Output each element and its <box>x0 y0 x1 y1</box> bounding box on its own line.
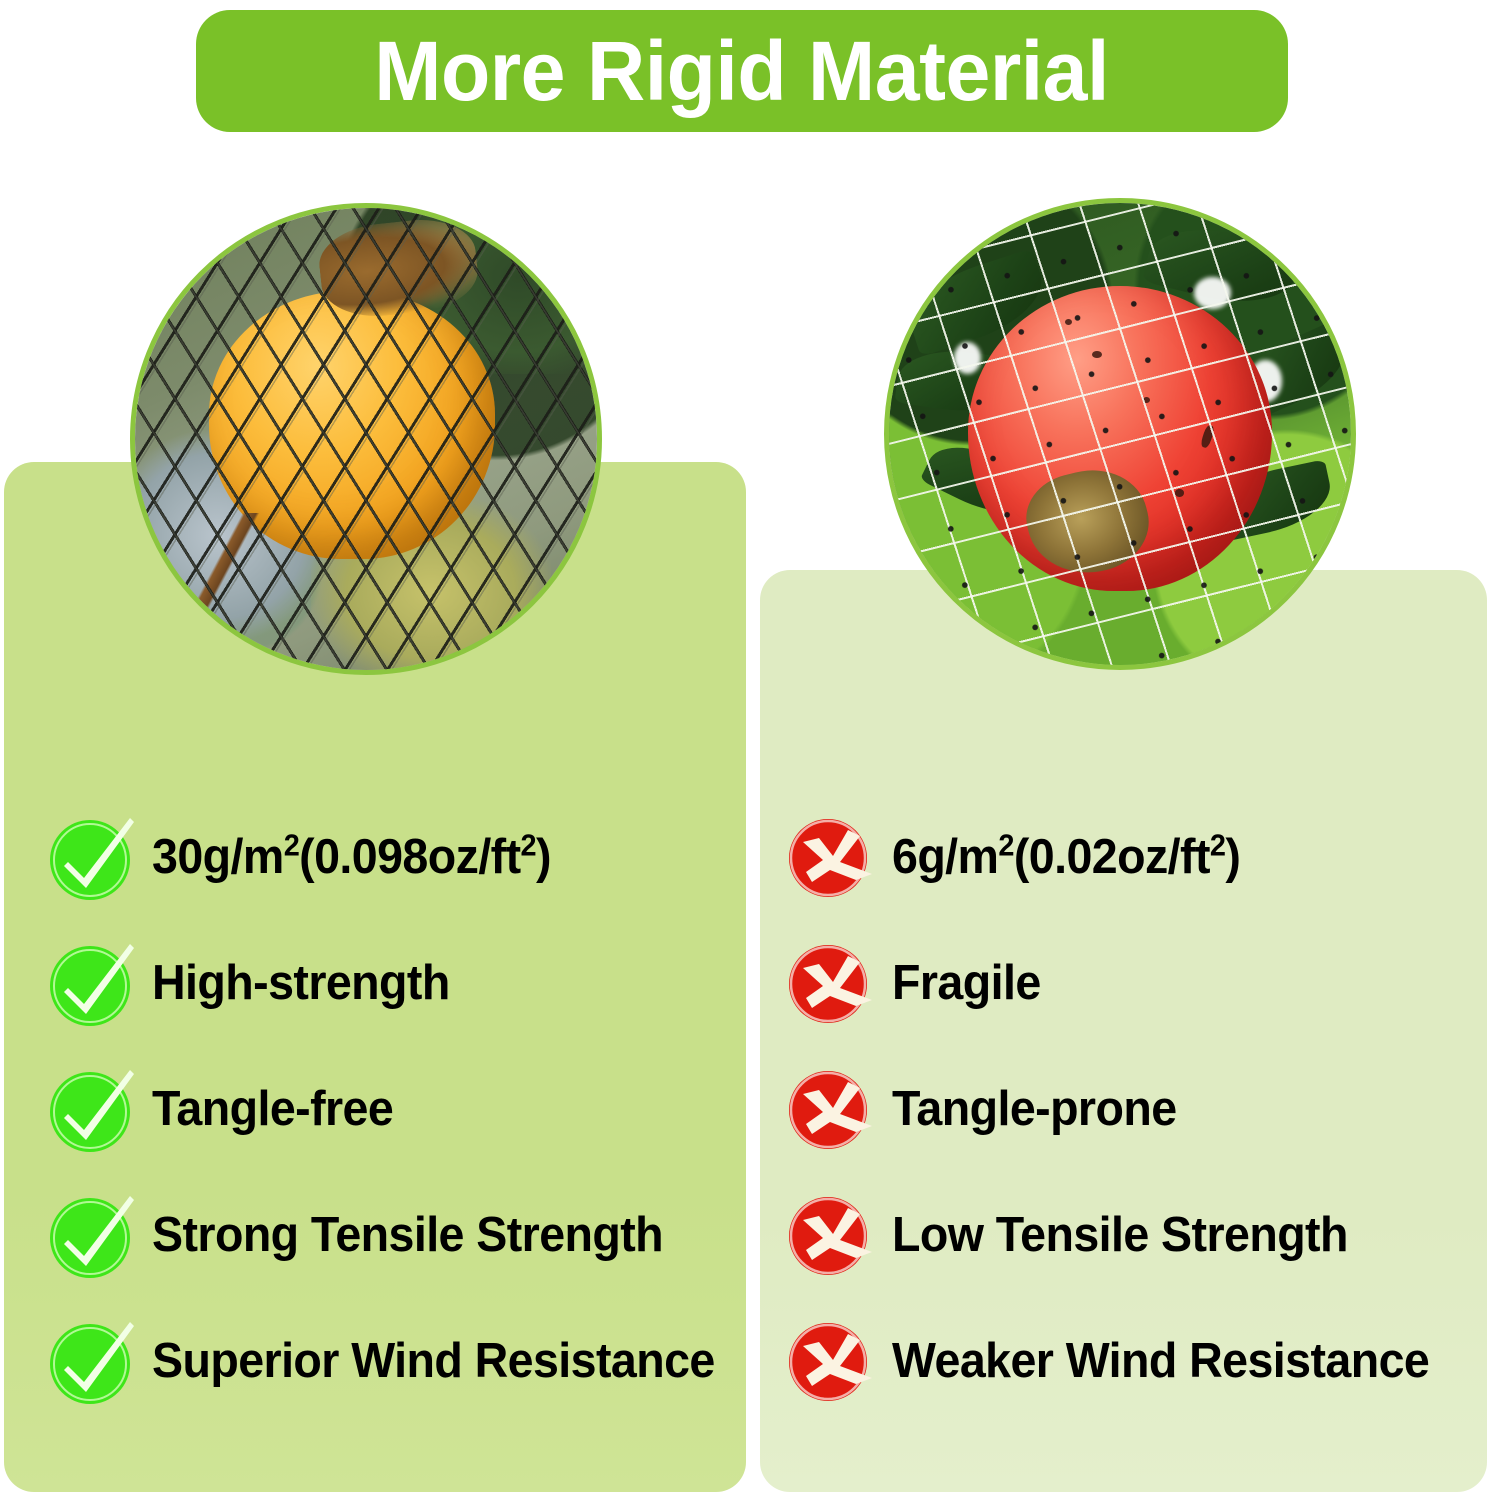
list-item: 30g/m2(0.098oz/ft2) <box>46 795 736 921</box>
feature-list-good: 30g/m2(0.098oz/ft2) High-strength Tangle… <box>46 795 736 1425</box>
list-item-label: 6g/m2(0.02oz/ft2) <box>892 832 1240 883</box>
product-photo-bad <box>884 198 1356 670</box>
list-item: Fragile <box>786 921 1476 1047</box>
list-item-label: Fragile <box>892 958 1041 1009</box>
check-icon <box>46 1190 138 1282</box>
pomegranate-netting-image <box>889 203 1351 665</box>
list-item-label: Superior Wind Resistance <box>152 1336 715 1387</box>
list-item-label: Weaker Wind Resistance <box>892 1336 1429 1387</box>
list-item-label: Tangle-free <box>152 1084 393 1135</box>
list-item: Low Tensile Strength <box>786 1173 1476 1299</box>
header-banner: More Rigid Material <box>196 10 1288 132</box>
list-item-label: Tangle-prone <box>892 1084 1177 1135</box>
list-item: High-strength <box>46 921 736 1047</box>
product-photo-good <box>130 203 602 675</box>
netting-knots <box>884 198 1356 670</box>
list-item-label: 30g/m2(0.098oz/ft2) <box>152 832 551 883</box>
cross-icon <box>786 812 878 904</box>
check-icon <box>46 1316 138 1408</box>
list-item-label: Low Tensile Strength <box>892 1210 1348 1261</box>
feature-list-bad: 6g/m2(0.02oz/ft2) Fragile Tangle-prone <box>786 795 1476 1425</box>
list-item: Weaker Wind Resistance <box>786 1299 1476 1425</box>
dark-netting-highlight <box>130 203 602 675</box>
cross-icon <box>786 1316 878 1408</box>
list-item-label: High-strength <box>152 958 450 1009</box>
list-item: Superior Wind Resistance <box>46 1299 736 1425</box>
cross-icon <box>786 1064 878 1156</box>
list-item: Strong Tensile Strength <box>46 1173 736 1299</box>
cross-icon <box>786 938 878 1030</box>
check-icon <box>46 812 138 904</box>
page-title: More Rigid Material <box>375 29 1110 113</box>
list-item-label: Strong Tensile Strength <box>152 1210 663 1261</box>
orange-fruit-netting-image <box>135 208 597 670</box>
check-icon <box>46 1064 138 1156</box>
list-item: Tangle-prone <box>786 1047 1476 1173</box>
check-icon <box>46 938 138 1030</box>
list-item: Tangle-free <box>46 1047 736 1173</box>
list-item: 6g/m2(0.02oz/ft2) <box>786 795 1476 921</box>
cross-icon <box>786 1190 878 1282</box>
